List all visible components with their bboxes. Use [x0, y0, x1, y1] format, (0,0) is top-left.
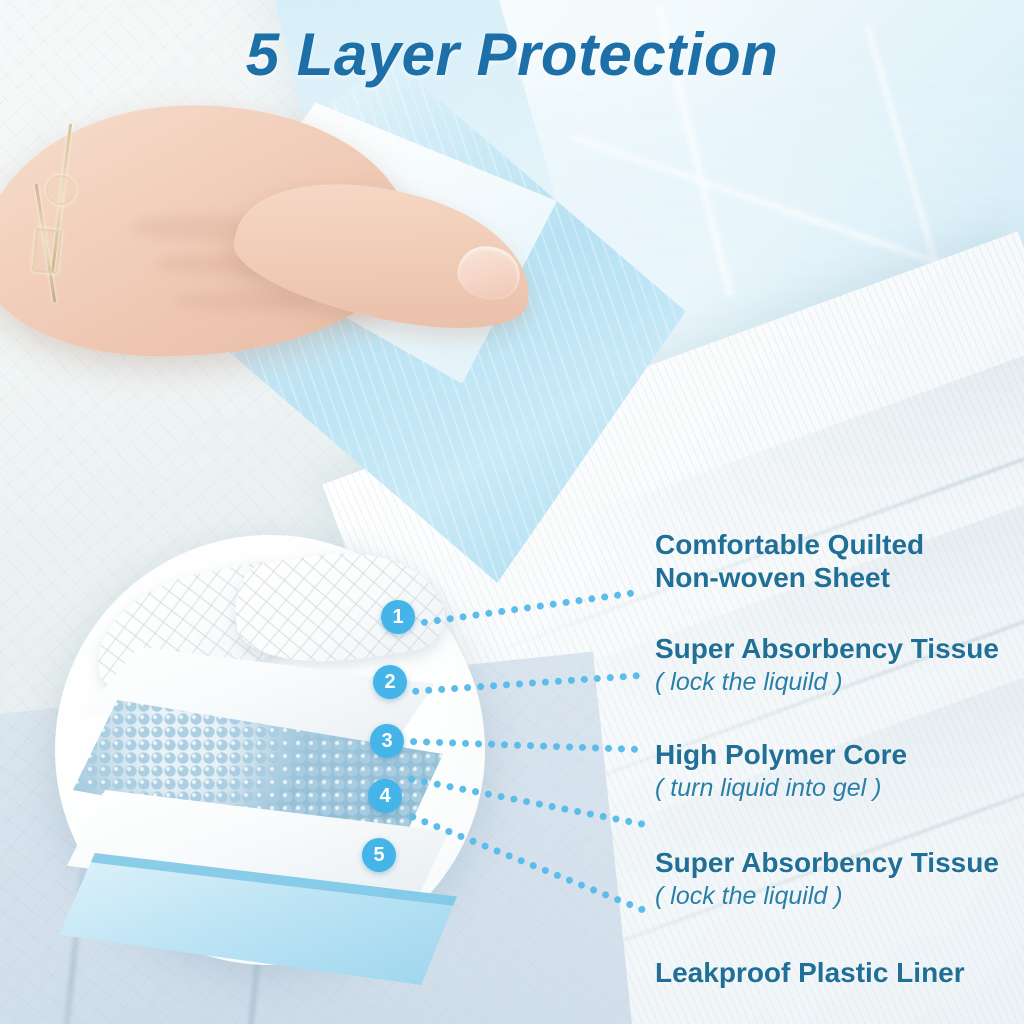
hand-holding-pad [0, 95, 560, 425]
layer-label-3: High Polymer Core ( turn liquid into gel… [655, 738, 907, 804]
layer-label-2: Super Absorbency Tissue ( lock the liqui… [655, 632, 999, 698]
layer-label-3-line1: High Polymer Core [655, 738, 907, 771]
bracelet-charm [32, 228, 62, 274]
layer-label-1-line2: Non-woven Sheet [655, 561, 924, 594]
exploded-layer-stack [55, 535, 485, 980]
layer-label-5: Leakproof Plastic Liner [655, 956, 965, 989]
layer-badge-4[interactable]: 4 [368, 779, 402, 813]
knuckle-crease-3 [175, 291, 315, 311]
bracelet [16, 117, 126, 327]
layer-label-4: Super Absorbency Tissue ( lock the liqui… [655, 846, 999, 912]
layer-label-4-sub: ( lock the liquild ) [655, 881, 999, 912]
layer-label-2-sub: ( lock the liquild ) [655, 667, 999, 698]
layer-label-2-line1: Super Absorbency Tissue [655, 632, 999, 665]
page-title: 5 Layer Protection [0, 20, 1024, 89]
infographic-canvas: 5 Layer Protection 1 2 3 4 5 Comfortable… [0, 0, 1024, 1024]
layer-badge-1[interactable]: 1 [381, 600, 415, 634]
layer-label-1: Comfortable Quilted Non-woven Sheet [655, 528, 924, 594]
layer-label-3-sub: ( turn liquid into gel ) [655, 773, 907, 804]
layer-label-4-line1: Super Absorbency Tissue [655, 846, 999, 879]
layer-badge-2[interactable]: 2 [373, 665, 407, 699]
layer-label-5-line1: Leakproof Plastic Liner [655, 956, 965, 989]
layer-badge-5[interactable]: 5 [362, 838, 396, 872]
layer-label-1-line1: Comfortable Quilted [655, 528, 924, 561]
layer-badge-3[interactable]: 3 [370, 724, 404, 758]
bracelet-loop [46, 175, 76, 205]
